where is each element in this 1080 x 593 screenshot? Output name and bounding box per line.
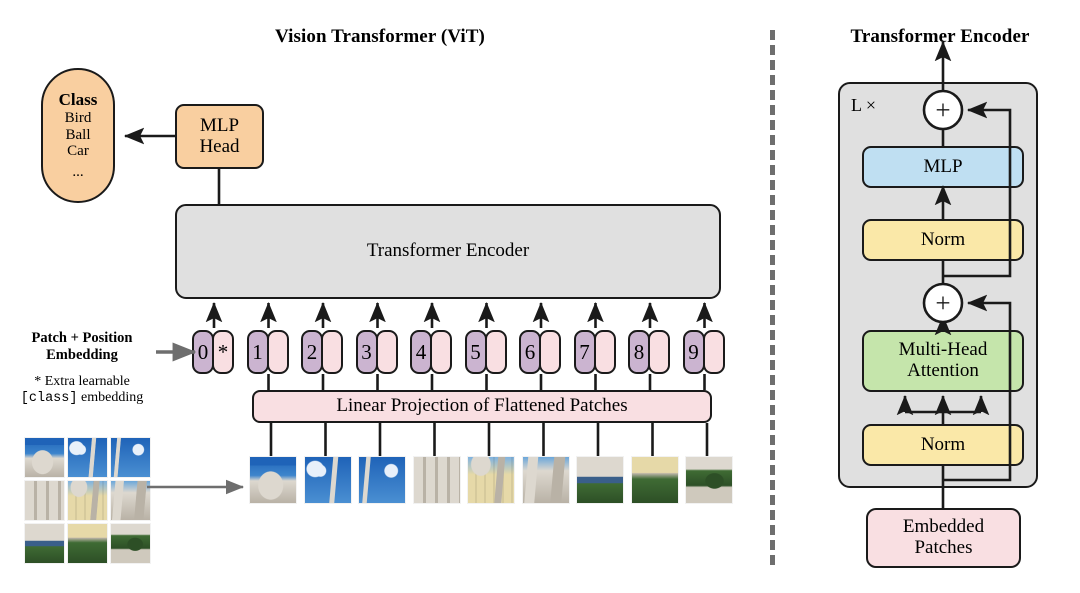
svg-text:+: +	[935, 288, 950, 318]
residual-add-middle: +	[924, 284, 962, 322]
encoder-connectors: + +	[0, 0, 1080, 593]
svg-text:+: +	[935, 95, 950, 125]
residual-add-top: +	[924, 91, 962, 129]
